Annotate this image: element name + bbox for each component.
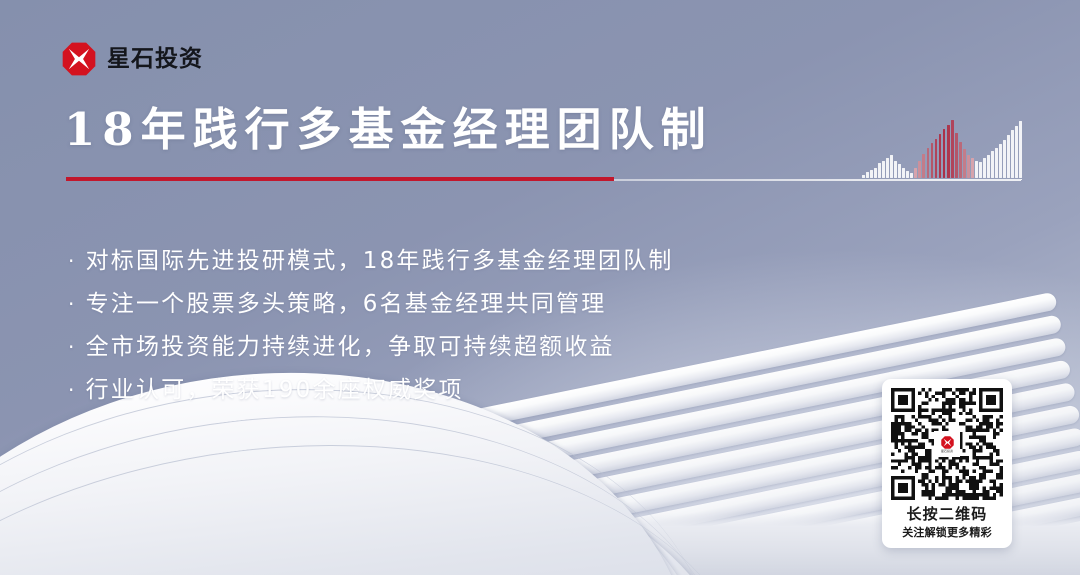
chart-bar	[927, 148, 930, 178]
brand-logo: 星石投资	[62, 42, 203, 76]
bullet-marker-icon: ·	[68, 337, 77, 357]
chart-bar	[959, 142, 962, 178]
chart-bar	[967, 155, 970, 178]
page-title: 18年践行多基金经理团队制	[64, 104, 713, 156]
chart-bar	[987, 155, 990, 178]
title-underline-accent	[66, 177, 614, 181]
chart-bar	[935, 139, 938, 178]
xingshi-octagon-logo-icon	[941, 436, 954, 449]
chart-bar	[943, 129, 946, 178]
list-item: ·对标国际先进投研模式，18年践行多基金经理团队制	[68, 250, 674, 273]
brand-name: 星石投资	[107, 48, 203, 71]
list-item: ·行业认可，荣获190余座权威奖项	[68, 379, 674, 402]
chart-bar	[894, 161, 897, 178]
list-item: ·专注一个股票多头策略，6名基金经理共同管理	[68, 293, 674, 316]
bullet-list: ·对标国际先进投研模式，18年践行多基金经理团队制·专注一个股票多头策略，6名基…	[68, 250, 674, 422]
qr-subtitle: 关注解锁更多精彩	[890, 527, 1004, 538]
bullet-marker-icon: ·	[68, 294, 77, 314]
chart-bar	[951, 120, 954, 178]
list-item: ·全市场投资能力持续进化，争取可持续超额收益	[68, 336, 674, 359]
chart-bar	[1007, 135, 1010, 178]
list-item-label: 对标国际先进投研模式，18年践行多基金经理团队制	[86, 250, 674, 273]
list-item-label: 全市场投资能力持续进化，争取可持续超额收益	[86, 336, 615, 359]
chart-bar	[939, 134, 942, 178]
chart-bar	[995, 148, 998, 178]
chart-bar	[882, 161, 885, 178]
chart-bar	[955, 133, 958, 178]
qr-title: 长按二维码	[890, 507, 1004, 522]
chart-bar	[878, 163, 881, 178]
list-item-label: 行业认可，荣获190余座权威奖项	[86, 379, 464, 402]
chart-bar	[1015, 126, 1018, 178]
chart-bar	[1011, 130, 1014, 178]
chart-bar	[1003, 140, 1006, 178]
chart-bar	[947, 125, 950, 178]
chart-bar	[983, 158, 986, 178]
qr-code-icon[interactable]: 星石投资	[891, 388, 1003, 500]
chart-bar	[922, 154, 925, 178]
chart-bar	[979, 162, 982, 178]
chart-bar	[999, 144, 1002, 178]
poster-canvas: 星石投资 18年践行多基金经理团队制 ·对标国际先进投研模式，18年践行多基金经…	[0, 0, 1080, 575]
chart-bar	[898, 164, 901, 178]
title-underline	[66, 177, 1021, 181]
chart-bar	[890, 155, 893, 178]
chart-bar	[991, 151, 994, 178]
title-underline-extension	[614, 179, 1021, 181]
qr-center-caption: 星石投资	[941, 450, 953, 453]
chart-bar	[931, 143, 934, 178]
chart-bar	[886, 158, 889, 178]
chart-bar	[1019, 121, 1022, 178]
chart-bar	[918, 161, 921, 178]
xingshi-octagon-logo-icon	[62, 42, 96, 76]
bar-chart-decoration	[862, 120, 1022, 178]
bullet-marker-icon: ·	[68, 251, 77, 271]
bullet-marker-icon: ·	[68, 380, 77, 400]
chart-bar	[975, 161, 978, 178]
chart-bar	[963, 149, 966, 178]
chart-bar	[971, 158, 974, 178]
qr-card[interactable]: 星石投资 长按二维码 关注解锁更多精彩	[882, 379, 1012, 548]
qr-center-brand: 星石投资	[934, 431, 960, 457]
headline-block: 18年践行多基金经理团队制	[64, 104, 713, 156]
list-item-label: 专注一个股票多头策略，6名基金经理共同管理	[86, 293, 607, 316]
